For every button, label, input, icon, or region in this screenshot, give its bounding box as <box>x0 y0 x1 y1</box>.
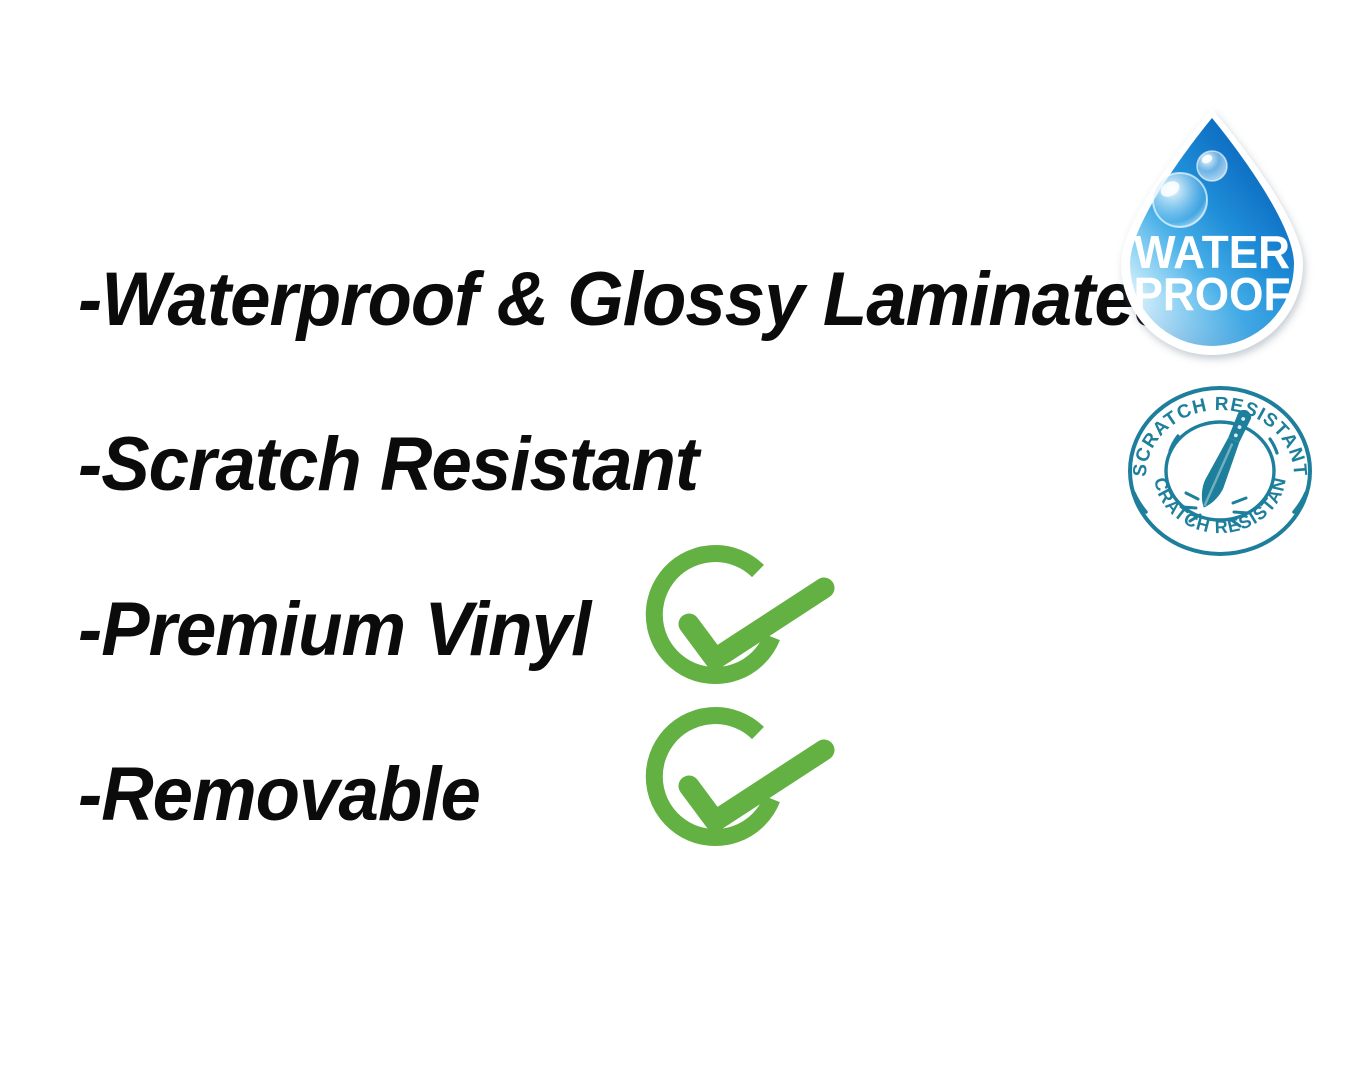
waterproof-line2: PROOF <box>1133 268 1290 320</box>
bubble-icon <box>1197 151 1227 181</box>
feature-scratch-resistant: -Scratch Resistant <box>78 423 698 507</box>
scratch-resistant-badge: SCRATCH RESISTANT SCRATCH RESISTANT <box>1120 381 1320 561</box>
feature-premium-vinyl: -Premium Vinyl <box>78 588 590 672</box>
scratch-resistant-stamp-icon: SCRATCH RESISTANT SCRATCH RESISTANT <box>1120 381 1320 561</box>
checkmark-premium-vinyl <box>636 556 836 708</box>
check-circle-icon <box>636 718 836 870</box>
feature-list-item: -Removable <box>78 753 1108 918</box>
check-circle-icon <box>636 556 836 708</box>
waterproof-badge: WATER PROOF <box>1108 104 1316 366</box>
feature-removable: -Removable <box>78 753 480 837</box>
product-feature-graphic: -Waterproof & Glossy Laminated -Scratch … <box>0 0 1359 1080</box>
checkmark-removable <box>636 718 836 870</box>
feature-list: -Waterproof & Glossy Laminated -Scratch … <box>78 258 1108 918</box>
water-drop-icon: WATER PROOF <box>1108 104 1316 366</box>
feature-list-item: -Scratch Resistant <box>78 423 1108 588</box>
feature-list-item: -Premium Vinyl <box>78 588 1108 753</box>
feature-waterproof-glossy-laminated: -Waterproof & Glossy Laminated <box>78 258 1177 342</box>
bubble-icon <box>1153 173 1207 227</box>
feature-list-item: -Waterproof & Glossy Laminated <box>78 258 1108 423</box>
